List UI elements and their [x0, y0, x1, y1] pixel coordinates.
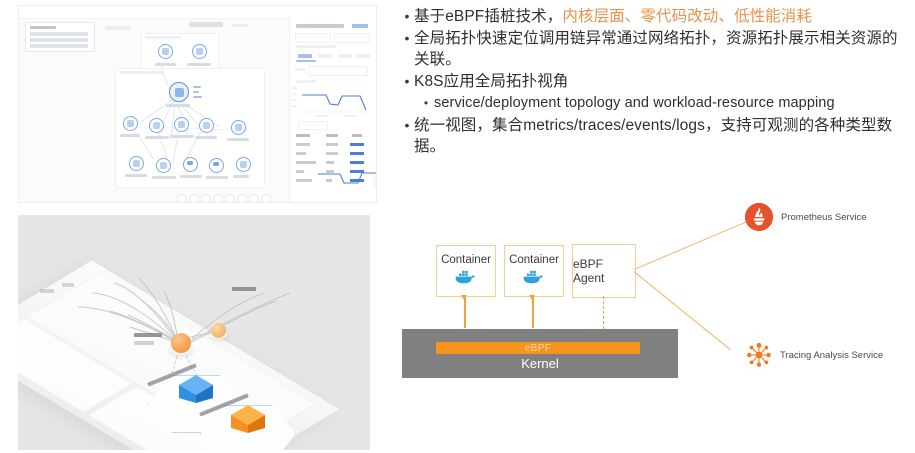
toolbar-button[interactable]	[261, 194, 271, 203]
ebpf-agent-label: eBPF Agent	[573, 257, 635, 285]
tab-item	[338, 54, 352, 58]
ebpf-bar: eBPF	[436, 342, 640, 354]
topology-node[interactable]	[236, 157, 251, 172]
bullet-text: 统一视图，集合metrics/traces/events/logs，支持可观测的…	[414, 115, 905, 157]
topology-node[interactable]	[129, 156, 144, 171]
prometheus-service[interactable]: Prometheus Service	[745, 203, 867, 231]
iso-node[interactable]	[210, 323, 227, 340]
tab-item	[318, 54, 332, 58]
iso-node[interactable]	[134, 293, 151, 310]
iso-cube-orange[interactable]	[231, 405, 265, 443]
ebpf-agent-box[interactable]: eBPF Agent	[572, 244, 636, 298]
topology-node[interactable]	[149, 118, 164, 133]
iso-node[interactable]	[156, 283, 173, 300]
iso-node[interactable]	[268, 293, 285, 310]
iso-node[interactable]	[130, 269, 147, 286]
ebpf-architecture-diagram: Container Container	[400, 196, 915, 451]
tracing-graph-icon	[746, 342, 772, 368]
isometric-topology-screenshot[interactable]	[18, 215, 370, 450]
container-box-2[interactable]: Container	[504, 245, 564, 297]
toolbar-button[interactable]	[225, 194, 235, 203]
bullet-text: 基于eBPF插桩技术，	[414, 8, 562, 25]
bullet-item: • 基于eBPF插桩技术，内核层面、零代码改动、低性能消耗	[400, 6, 905, 27]
topology-root-node[interactable]	[169, 82, 189, 102]
bullet-text: K8S应用全局拓扑视角	[414, 71, 568, 92]
docker-whale-icon	[454, 269, 478, 290]
iso-node[interactable]	[84, 285, 101, 302]
toolbar-button[interactable]	[249, 194, 259, 203]
slide-root: • 基于eBPF插桩技术，内核层面、零代码改动、低性能消耗 • 全局拓扑快速定位…	[0, 0, 915, 453]
container-label: Container	[509, 253, 559, 267]
bullet-marker: •	[418, 93, 434, 114]
iso-hub-node[interactable]	[170, 333, 192, 355]
bullet-marker: •	[400, 71, 414, 92]
iso-node[interactable]	[178, 291, 195, 308]
toolbar-button[interactable]	[189, 194, 199, 203]
topology-node[interactable]	[174, 117, 189, 132]
topology-node[interactable]	[156, 158, 171, 173]
bullet-item: • K8S应用全局拓扑视角	[400, 71, 905, 92]
filter-panel[interactable]	[25, 22, 95, 52]
bullet-text: service/deployment topology and workload…	[434, 93, 835, 114]
ebpf-bar-label: eBPF	[525, 343, 552, 354]
tracing-analysis-service[interactable]: Tracing Analysis Service	[746, 342, 883, 368]
topology-node[interactable]	[199, 118, 214, 133]
apm-topology-screenshot[interactable]	[18, 5, 377, 203]
topology-node[interactable]	[192, 44, 207, 59]
toolbar-button[interactable]	[201, 194, 211, 203]
bullet-item-sub: • service/deployment topology and worklo…	[400, 93, 905, 114]
dropdown-select[interactable]	[308, 66, 368, 76]
bullet-marker: •	[400, 115, 414, 136]
metric-chart[interactable]	[296, 86, 370, 114]
container-kernel-arrow	[532, 296, 534, 328]
bullet-item: • 全局拓扑快速定位调用链异常通过网络拓扑，资源拓扑展示相关资源的关联。	[400, 28, 905, 70]
iso-node[interactable]	[102, 303, 119, 320]
iso-node[interactable]	[106, 275, 123, 292]
toolbar-button[interactable]	[213, 194, 223, 203]
container-label: Container	[441, 253, 491, 267]
topology-node[interactable]	[209, 158, 224, 173]
topology-node[interactable]	[158, 44, 173, 59]
docker-whale-icon	[522, 269, 546, 290]
bullet-highlight: 内核层面、零代码改动、低性能消耗	[562, 8, 812, 25]
tab-item	[298, 54, 312, 58]
topology-node[interactable]	[231, 120, 246, 135]
topology-node[interactable]	[123, 116, 138, 131]
bullet-item: • 统一视图，集合metrics/traces/events/logs，支持可观…	[400, 115, 905, 157]
topology-card-top[interactable]	[141, 33, 219, 73]
tab-item	[356, 54, 370, 58]
iso-node[interactable]	[304, 279, 321, 296]
container-box-1[interactable]: Container	[436, 245, 496, 297]
tracing-service-label: Tracing Analysis Service	[780, 350, 883, 361]
toolbar-button[interactable]	[177, 194, 187, 203]
bullet-marker: •	[400, 28, 414, 49]
bullet-text: 全局拓扑快速定位调用链异常通过网络拓扑，资源拓扑展示相关资源的关联。	[414, 28, 905, 70]
container-kernel-arrow	[464, 296, 466, 328]
topology-node[interactable]	[183, 157, 198, 172]
dropdown-select[interactable]	[298, 121, 328, 130]
bullet-marker: •	[400, 6, 414, 27]
metric-chart[interactable]	[314, 166, 377, 190]
toolbar-button[interactable]	[237, 194, 247, 203]
prometheus-logo-icon	[745, 203, 773, 231]
bullet-list: • 基于eBPF插桩技术，内核层面、零代码改动、低性能消耗 • 全局拓扑快速定位…	[400, 6, 905, 158]
agent-prometheus-line	[634, 221, 747, 270]
prometheus-service-label: Prometheus Service	[781, 212, 867, 223]
kernel-label: Kernel	[521, 356, 559, 378]
